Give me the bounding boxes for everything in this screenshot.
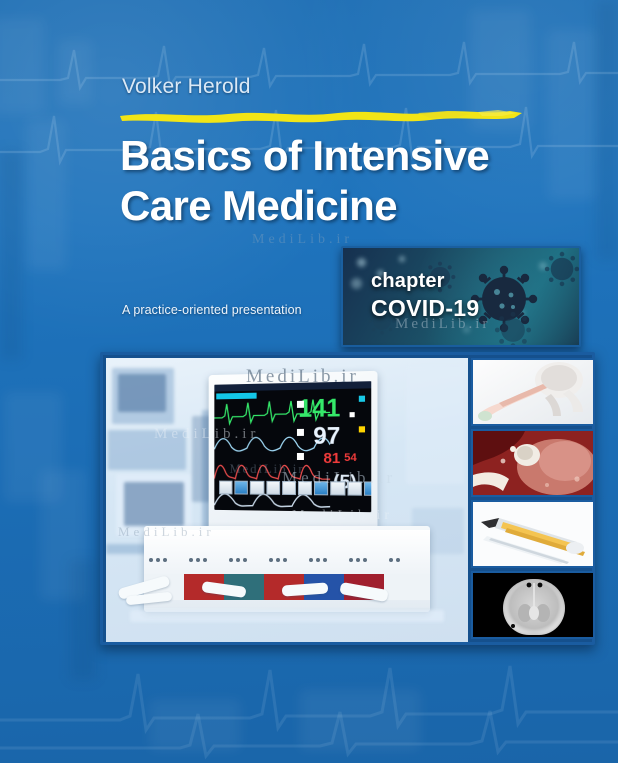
coronavirus-icon-small (543, 250, 581, 288)
monitor-softkey[interactable] (235, 481, 249, 495)
monitor-indicator-square (350, 412, 355, 417)
bokeh-dot (399, 256, 405, 262)
pump-button-dots[interactable] (349, 558, 367, 562)
syringe-pump-module (224, 530, 265, 608)
syringe-pump-module (384, 530, 430, 608)
pump-cassette (384, 574, 430, 600)
thumbnail-catheter-device (471, 500, 595, 568)
thumbnail-airway-manikin (471, 358, 595, 426)
bg-ecg-trace-top (0, 28, 618, 98)
monitor-screen: 141 97 81 (5) 54 (214, 381, 371, 512)
bg-ecg-trace-bottom (0, 700, 618, 763)
monitor-softkey[interactable] (347, 481, 362, 495)
monitor-softkey[interactable] (314, 481, 328, 495)
coronavirus-icon-small (493, 310, 533, 347)
syringe-pump-module (304, 530, 345, 608)
covid-chapter-badge: chapter COVID-19 MediLib.ir (341, 246, 581, 347)
pump-shelf (130, 610, 444, 622)
main-icu-photo: 141 97 81 (5) 54 (106, 358, 468, 642)
monitor-softkey[interactable] (331, 481, 345, 495)
bokeh-dot (351, 278, 362, 289)
syringe-pump-stack (144, 526, 430, 612)
monitor-softkey[interactable] (250, 481, 264, 495)
icu-trolley-screen (124, 482, 184, 526)
endoscopy-illustration (473, 431, 593, 495)
page-title: Basics of Intensive Care Medicine (120, 131, 590, 231)
covid-badge-chapter-label: chapter (371, 270, 479, 293)
book-cover: MediLib.ir Volker Herold Basics of Inten… (0, 0, 618, 763)
syringe-pump-module (264, 530, 305, 608)
brain-ct-detail (503, 579, 565, 635)
subtitle: A practice-oriented presentation (122, 303, 302, 317)
monitor-spo2-value: 97 (313, 424, 340, 448)
pump-button-dots[interactable] (309, 558, 327, 562)
photo-collage: 141 97 81 (5) 54 (100, 352, 595, 645)
monitor-abp-secondary-value: 54 (344, 453, 357, 464)
monitor-softkey[interactable] (266, 481, 280, 495)
yellow-brush-stroke-accent (118, 106, 530, 124)
pump-button-dots[interactable] (229, 558, 247, 562)
pump-button-dots[interactable] (189, 558, 207, 562)
monitor-softkey[interactable] (219, 481, 233, 495)
patient-monitor: 141 97 81 (5) 54 (209, 371, 378, 550)
monitor-softkey[interactable] (364, 481, 371, 495)
watermark-top: MediLib.ir (252, 232, 353, 248)
monitor-softkey[interactable] (282, 481, 296, 495)
monitor-softkey[interactable] (298, 481, 312, 495)
bokeh-dot (357, 258, 366, 267)
pump-button-dots[interactable] (389, 558, 400, 562)
title-line-1: Basics of Intensive (120, 132, 489, 179)
thumbnail-endoscopic-view (471, 429, 595, 497)
icu-cart (108, 430, 186, 470)
monitor-indicator-square (359, 426, 365, 432)
pump-button-dots[interactable] (269, 558, 287, 562)
thumbnail-brain-ct-scan (471, 571, 595, 639)
covid-badge-text: chapter COVID-19 (371, 270, 479, 322)
author-name: Volker Herold (122, 75, 251, 99)
airway-manikin-illustration (473, 360, 593, 424)
monitor-indicator-square (359, 396, 365, 402)
monitor-indicator-square (297, 453, 304, 460)
bg-ghost-shape (0, 150, 22, 360)
title-line-2: Care Medicine (120, 181, 590, 231)
pump-button-dots[interactable] (149, 558, 167, 562)
catheter-introducer-illustration (473, 502, 593, 566)
watermark-covid-badge: MediLib.ir (395, 316, 490, 333)
monitor-indicator-square (297, 401, 304, 408)
monitor-softkey-row[interactable] (219, 481, 371, 496)
monitor-heart-rate-value: 141 (298, 396, 340, 422)
syringe-pump-module (184, 530, 225, 608)
icu-wall-panel (406, 366, 464, 484)
monitor-indicator-square (297, 429, 304, 436)
icu-ventilator-screen (118, 374, 166, 412)
monitor-screen-topbar (214, 381, 371, 391)
monitor-abp-value: 81 (323, 451, 340, 466)
